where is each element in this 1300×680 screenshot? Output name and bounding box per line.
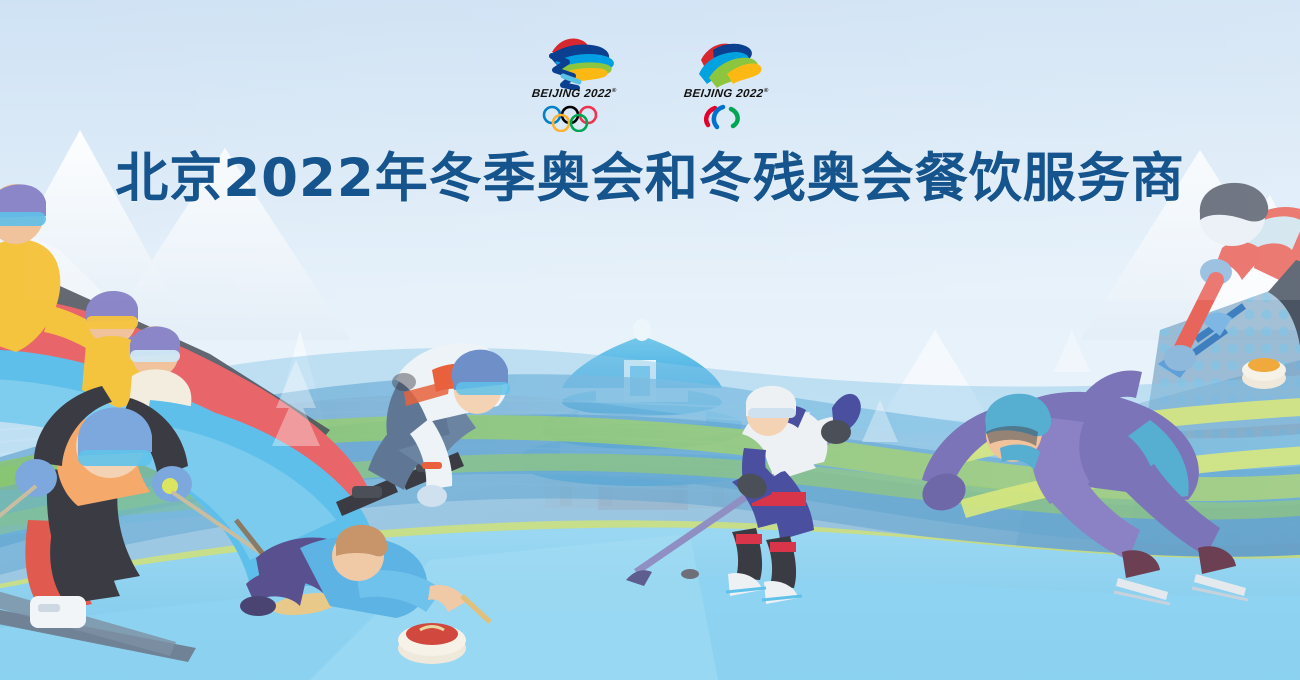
page-title: 北京2022年冬季奥会和冬残奥会餐饮服务商 [0, 148, 1300, 210]
beijing-2022-catering-sponsor-banner: BEIJING 2022® [0, 0, 1300, 680]
winter-dream-emblem-icon [519, 30, 629, 90]
paralympic-wordmark: BEIJING 2022® [670, 88, 781, 100]
beijing-2022-paralympic-emblem: BEIJING 2022® [671, 30, 781, 142]
olympic-rings-icon [519, 104, 629, 132]
flying-high-emblem-icon [671, 30, 781, 90]
olympic-wordmark: BEIJING 2022® [518, 88, 629, 100]
emblem-group: BEIJING 2022® [0, 30, 1300, 145]
paralympic-agitos-icon [671, 104, 781, 130]
beijing-2022-olympic-emblem: BEIJING 2022® [519, 30, 629, 142]
